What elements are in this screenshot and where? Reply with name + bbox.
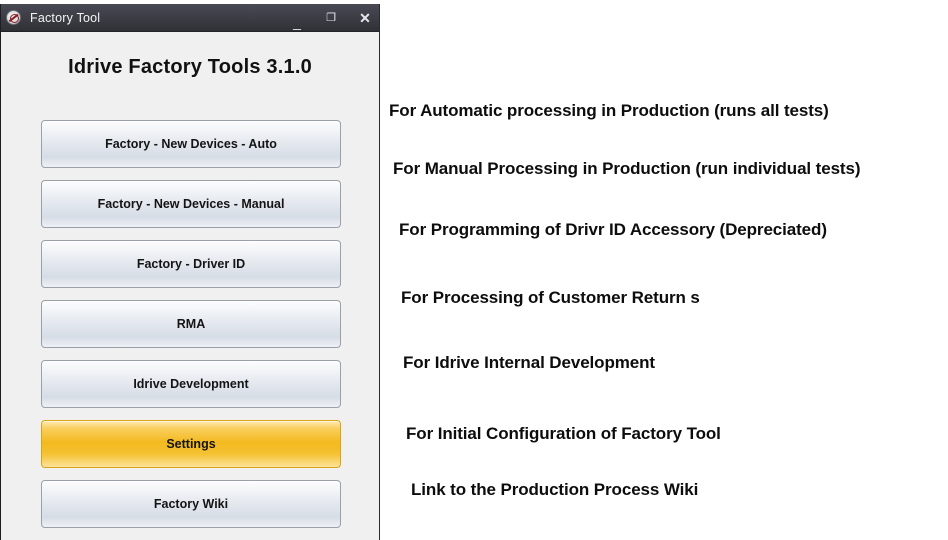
close-icon[interactable]: ✕	[357, 11, 373, 25]
description-factory-new-devices-manual: For Manual Processing in Production (run…	[393, 159, 860, 179]
button-factory-new-devices-manual[interactable]: Factory - New Devices - Manual	[41, 180, 341, 228]
button-factory-driver-id[interactable]: Factory - Driver ID	[41, 240, 341, 288]
button-factory-wiki[interactable]: Factory Wiki	[41, 480, 341, 528]
button-settings[interactable]: Settings	[41, 420, 341, 468]
description-factory-driver-id: For Programming of Drivr ID Accessory (D…	[399, 220, 827, 240]
button-rma[interactable]: RMA	[41, 300, 341, 348]
description-rma: For Processing of Customer Return s	[401, 288, 700, 308]
window-controls: _ ❐ ✕	[289, 4, 373, 32]
window-title: Factory Tool	[30, 11, 100, 25]
minimize-icon[interactable]: _	[289, 15, 305, 29]
button-factory-new-devices-auto[interactable]: Factory - New Devices - Auto	[41, 120, 341, 168]
description-settings: For Initial Configuration of Factory Too…	[406, 424, 721, 444]
description-idrive-development: For Idrive Internal Development	[403, 353, 655, 373]
description-panel: For Automatic processing in Production (…	[380, 0, 948, 540]
maximize-icon[interactable]: ❐	[323, 13, 339, 24]
page-title: Idrive Factory Tools 3.1.0	[1, 32, 379, 79]
button-idrive-development[interactable]: Idrive Development	[41, 360, 341, 408]
description-factory-new-devices-auto: For Automatic processing in Production (…	[389, 101, 829, 121]
tool-button-list: Factory - New Devices - Auto Factory - N…	[41, 120, 341, 540]
factory-tool-window: Factory Tool _ ❐ ✕ Idrive Factory Tools …	[0, 4, 380, 540]
window-title-bar[interactable]: Factory Tool _ ❐ ✕	[1, 4, 379, 32]
description-factory-wiki: Link to the Production Process Wiki	[411, 480, 698, 500]
window-body: Idrive Factory Tools 3.1.0 Factory - New…	[1, 32, 379, 540]
app-logo-icon	[6, 10, 21, 25]
